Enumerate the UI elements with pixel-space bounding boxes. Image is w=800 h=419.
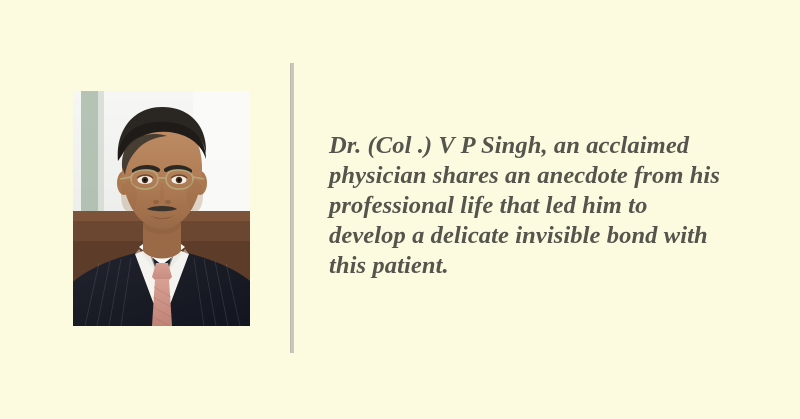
caption-block: Dr. (Col .) V P Singh, an acclaimed phys…	[329, 131, 759, 281]
vertical-divider	[290, 63, 294, 353]
portrait-illustration	[73, 91, 250, 326]
caption-line-2: physician shares an anecdote from his	[329, 161, 759, 191]
portrait-photo	[73, 91, 250, 326]
slide-canvas: Dr. (Col .) V P Singh, an acclaimed phys…	[0, 0, 800, 419]
caption-line-4: develop a delicate invisible bond with	[329, 221, 759, 251]
caption-line-5: this patient.	[329, 251, 759, 281]
caption-line-3: professional life that led him to	[329, 191, 759, 221]
caption-line-1: Dr. (Col .) V P Singh, an acclaimed	[329, 131, 759, 161]
